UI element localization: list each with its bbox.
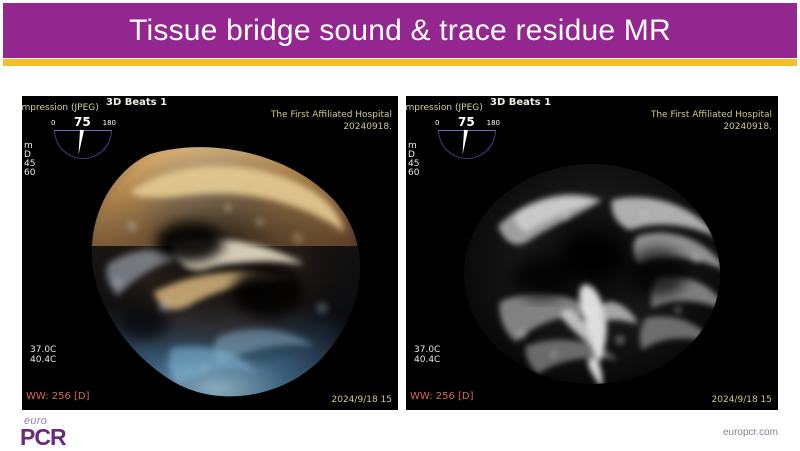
probe-temperature: 37.0C	[30, 346, 56, 355]
max-temperature: 40.4C	[414, 356, 440, 365]
probe-temperature: 37.0C	[414, 346, 440, 355]
echo-panel-right[interactable]: ompression (JPEG) 3D Beats 1 The First A…	[406, 96, 778, 410]
hospital-label: The First Affiliated Hospital	[651, 111, 772, 120]
compression-label: ompression (JPEG)	[406, 104, 483, 113]
gauge-min-label: 0	[51, 119, 55, 127]
compression-label: ompression (JPEG)	[22, 104, 99, 113]
slide-canvas: Tissue bridge sound & trace residue MR	[0, 0, 800, 450]
gauge-max-label: 180	[103, 119, 116, 127]
study-date-label: 20240918.	[723, 123, 772, 132]
title-accent-rule	[3, 59, 797, 66]
window-width-label: WW: 256 [D]	[26, 392, 90, 402]
side-ruler-right: m D 45 60	[408, 142, 419, 178]
angle-gauge-right: 0 75 180	[434, 116, 500, 162]
gauge-min-label: 0	[435, 119, 439, 127]
hospital-label: The First Affiliated Hospital	[271, 111, 392, 120]
side-ruler-line: 60	[408, 169, 419, 178]
website-label: europcr.com	[723, 427, 778, 438]
gauge-value-label: 75	[74, 115, 91, 129]
title-banner: Tissue bridge sound & trace residue MR	[3, 3, 797, 58]
beats-label: 3D Beats 1	[106, 98, 167, 108]
logo-pcr-text: PCR	[20, 424, 66, 451]
side-ruler-left: m D 45 60	[24, 142, 35, 178]
acquisition-timestamp: 2024/9/18 15	[712, 396, 772, 405]
beats-label: 3D Beats 1	[490, 98, 551, 108]
study-date-label: 20240918.	[343, 123, 392, 132]
gauge-value-label: 75	[458, 115, 475, 129]
acquisition-timestamp: 2024/9/18 15	[332, 396, 392, 405]
angle-gauge-left: 0 75 180	[50, 116, 116, 162]
max-temperature: 40.4C	[30, 356, 56, 365]
europcr-logo: euro PCR	[14, 415, 104, 447]
page-title: Tissue bridge sound & trace residue MR	[129, 16, 671, 46]
gauge-max-label: 180	[487, 119, 500, 127]
echo-panel-left[interactable]: ompression (JPEG) 3D Beats 1 The First A…	[22, 96, 398, 410]
side-ruler-line: 60	[24, 169, 35, 178]
window-width-label: WW: 256 [D]	[410, 392, 474, 402]
